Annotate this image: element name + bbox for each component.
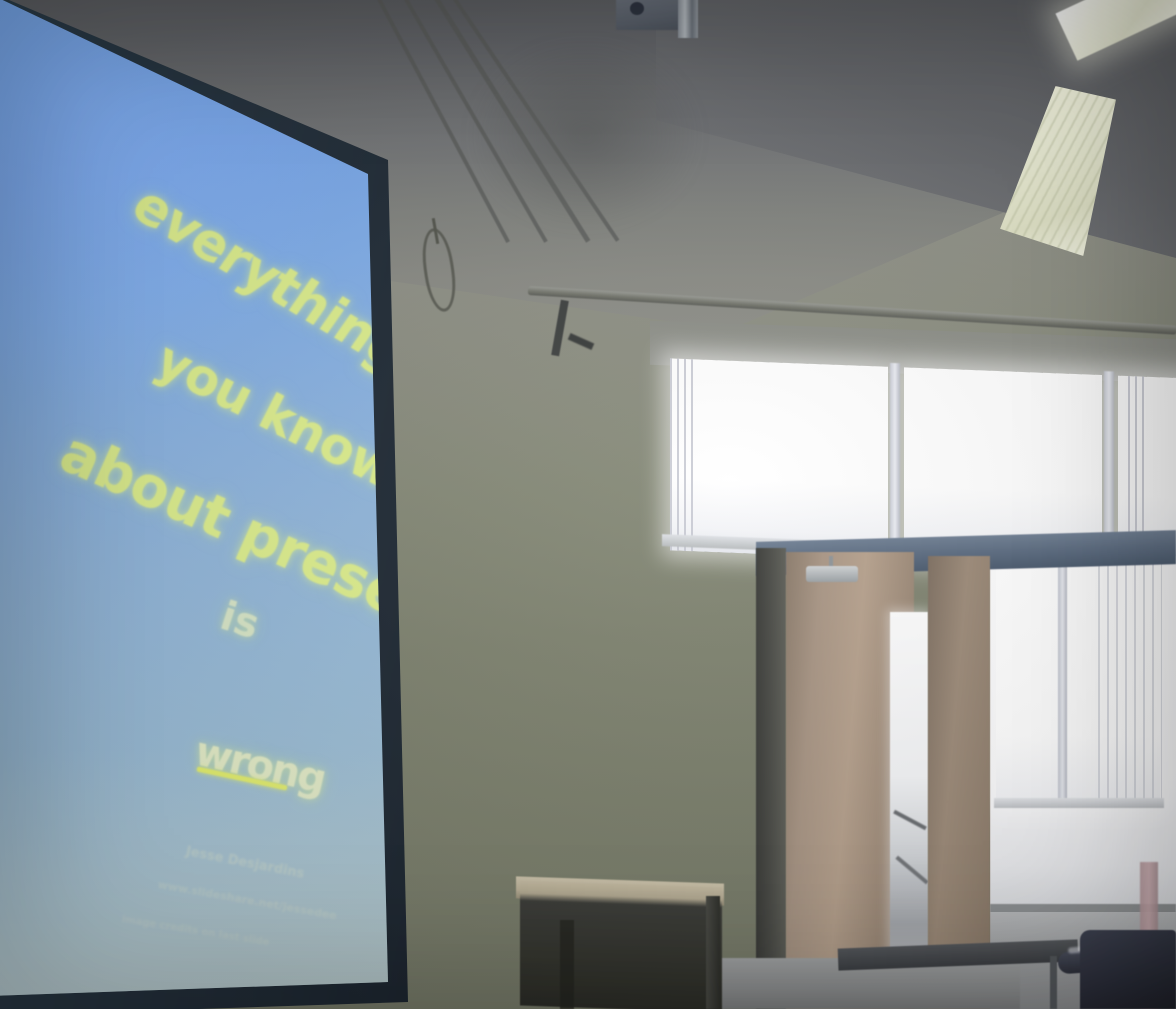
door-vision-panel [890, 612, 928, 1002]
vertical-blinds-icon [1098, 560, 1162, 804]
slide-credit-1: Jesse Desjardins [185, 844, 306, 882]
projector-lens-icon [630, 2, 644, 15]
corridor-window-sill [994, 798, 1164, 808]
corridor-window-mullion [1058, 556, 1067, 806]
office-chair[interactable] [1080, 930, 1176, 1009]
slide-underline [196, 766, 287, 790]
window-pane [670, 358, 888, 558]
lectern-leg [706, 896, 720, 1009]
door-jamb [756, 548, 786, 1009]
desk-leg [1050, 956, 1057, 1009]
slide-credit-3: image credits on last slide [121, 914, 270, 948]
ceiling-mount-tube [678, 0, 698, 38]
photo-scene: everything you know about presentations … [0, 0, 1176, 1009]
lectern-shelf [560, 920, 574, 1009]
projection-screen-assembly: everything you know about presentations … [0, 0, 430, 1009]
wooden-door-leaf-second[interactable] [928, 556, 990, 1009]
lectern[interactable] [520, 880, 722, 1009]
window-mullion [890, 363, 900, 563]
vertical-blinds-icon [670, 358, 696, 551]
slide-credit-2: www.slideshare.net/jessedee [157, 878, 338, 922]
door-closer-icon [806, 566, 858, 582]
slide-line-4: is [215, 593, 265, 648]
slide-line-5: wrong [191, 729, 329, 803]
